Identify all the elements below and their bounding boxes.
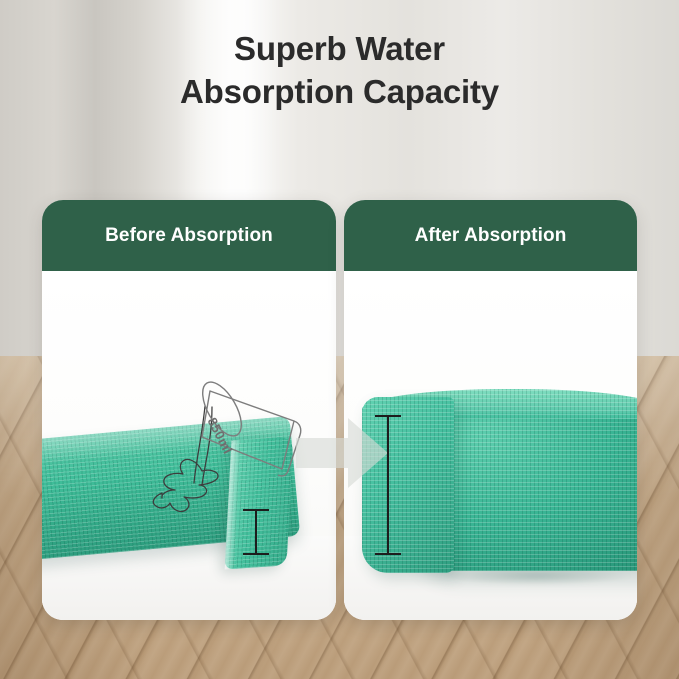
towel-rolled: [362, 389, 637, 589]
card-before-header-label: Before Absorption: [105, 225, 273, 247]
measure-stem: [387, 415, 389, 555]
card-after-header-label: After Absorption: [415, 225, 567, 247]
card-before-absorption: Before Absorption: [42, 200, 336, 620]
measuring-cup-icon: 850ml: [190, 377, 306, 489]
card-before-body: 850ml: [42, 271, 336, 620]
product-comparison-image: Superb Water Absorption Capacity Before …: [0, 0, 679, 679]
measure-stem: [255, 509, 257, 555]
page-title-line-1: Superb Water: [234, 30, 445, 67]
measure-cap-bottom: [243, 553, 269, 555]
card-after-header: After Absorption: [344, 200, 637, 271]
height-measure-icon-before: [243, 509, 269, 555]
card-before-header: Before Absorption: [42, 200, 336, 271]
scene-before: 850ml: [42, 271, 336, 620]
height-measure-icon-after: [375, 415, 401, 555]
measure-cap-bottom: [375, 553, 401, 555]
page-title: Superb Water Absorption Capacity: [0, 28, 679, 113]
page-title-line-2: Absorption Capacity: [0, 71, 679, 114]
card-after-absorption: After Absorption: [344, 200, 637, 620]
